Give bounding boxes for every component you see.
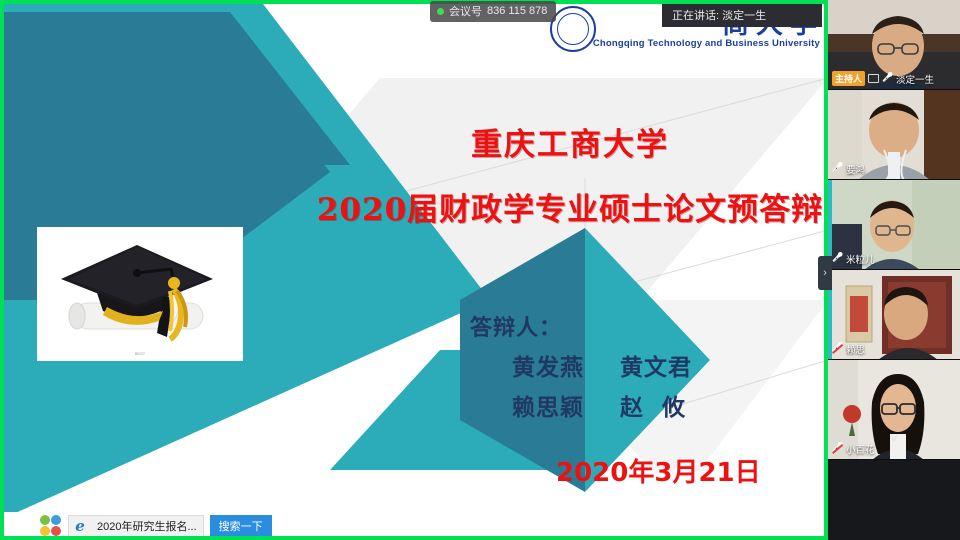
browser-taskbar-item[interactable]: e 2020年研究生报名...: [68, 515, 204, 537]
participant-tile[interactable]: 赖思: [828, 270, 960, 360]
host-badge: 主持人: [832, 71, 865, 86]
slide-title-line1: 重庆工商大学: [300, 128, 828, 162]
participant-video-strip[interactable]: 主持人 淡定一生 要鸿: [828, 0, 960, 540]
mic-icon: [832, 163, 843, 174]
meeting-id-badge: 会议号 836 115 878: [430, 1, 556, 22]
participant-label: 主持人 淡定一生: [828, 71, 938, 86]
presenter-label: 答辩人：: [470, 310, 692, 342]
speaking-prefix: 正在讲话:: [672, 10, 719, 22]
internet-explorer-icon: e: [69, 516, 91, 536]
participant-name: 赖思: [846, 342, 865, 356]
slide-title-line2: 2020届财政学专业硕士论文预答辩: [300, 184, 828, 229]
video-conference-window: BEST 重庆工商大学 2020届财政学专业硕士论文预答辩 答辩人： 黄发燕 黄…: [0, 0, 960, 540]
participant-label: 要鸿: [828, 161, 869, 176]
participant-tile[interactable]: 要鸿: [828, 90, 960, 180]
svg-text:BEST: BEST: [135, 351, 146, 356]
participant-name: 淡定一生: [896, 72, 934, 86]
mic-muted-icon: [832, 443, 843, 454]
collapse-panel-button[interactable]: ›: [818, 256, 832, 290]
mic-icon: [832, 253, 843, 264]
screen-share-icon: [868, 74, 879, 83]
participant-name: 米粒儿: [846, 252, 875, 266]
search-button[interactable]: 搜索一下: [210, 515, 272, 537]
participant-name: 要鸿: [846, 162, 865, 176]
windows-start-orb-icon[interactable]: [40, 515, 62, 537]
chevron-down-icon[interactable]: ˅: [890, 432, 898, 445]
shared-screen-region: BEST 重庆工商大学 2020届财政学专业硕士论文预答辩 答辩人： 黄发燕 黄…: [0, 0, 828, 540]
participant-label: 米粒儿: [828, 251, 879, 266]
presenter-block: 答辩人： 黄发燕 黄文君 赖思颖 赵 攸: [470, 310, 692, 422]
participant-name: 小百花: [846, 442, 875, 456]
presenter-row-2: 赖思颖 赵 攸: [470, 388, 692, 422]
slide-date: 2020年3月21日: [556, 452, 761, 489]
recording-dot-icon: [437, 8, 444, 15]
windows-taskbar[interactable]: e 2020年研究生报名... 搜索一下: [0, 512, 828, 540]
presentation-slide: BEST 重庆工商大学 2020届财政学专业硕士论文预答辩 答辩人： 黄发燕 黄…: [0, 0, 828, 520]
speaking-name: 淡定一生: [722, 10, 766, 22]
slide-title-block: 重庆工商大学 2020届财政学专业硕士论文预答辩: [300, 128, 828, 229]
graduation-cap-photo: BEST: [37, 227, 243, 361]
participant-label: 小百花: [828, 441, 879, 456]
shared-desktop: BEST 重庆工商大学 2020届财政学专业硕士论文预答辩 答辩人： 黄发燕 黄…: [0, 0, 828, 540]
participant-label: 赖思: [828, 341, 869, 356]
participant-tile[interactable]: 米粒儿: [828, 180, 960, 270]
browser-title: 2020年研究生报名...: [91, 518, 203, 534]
meeting-id-value: 836 115 878: [487, 5, 547, 17]
active-speaker-bar: 正在讲话: 淡定一生: [662, 4, 822, 27]
meeting-id-label: 会议号: [449, 3, 482, 19]
mic-muted-icon: [832, 343, 843, 354]
university-seal-icon: [550, 6, 596, 52]
participant-tile[interactable]: ˅ 小百花: [828, 360, 960, 460]
mic-icon: [882, 73, 893, 84]
participant-tile[interactable]: 主持人 淡定一生: [828, 0, 960, 90]
presenter-row-1: 黄发燕 黄文君: [470, 348, 692, 382]
university-name-en: Chongqing Technology and Business Univer…: [593, 38, 820, 49]
